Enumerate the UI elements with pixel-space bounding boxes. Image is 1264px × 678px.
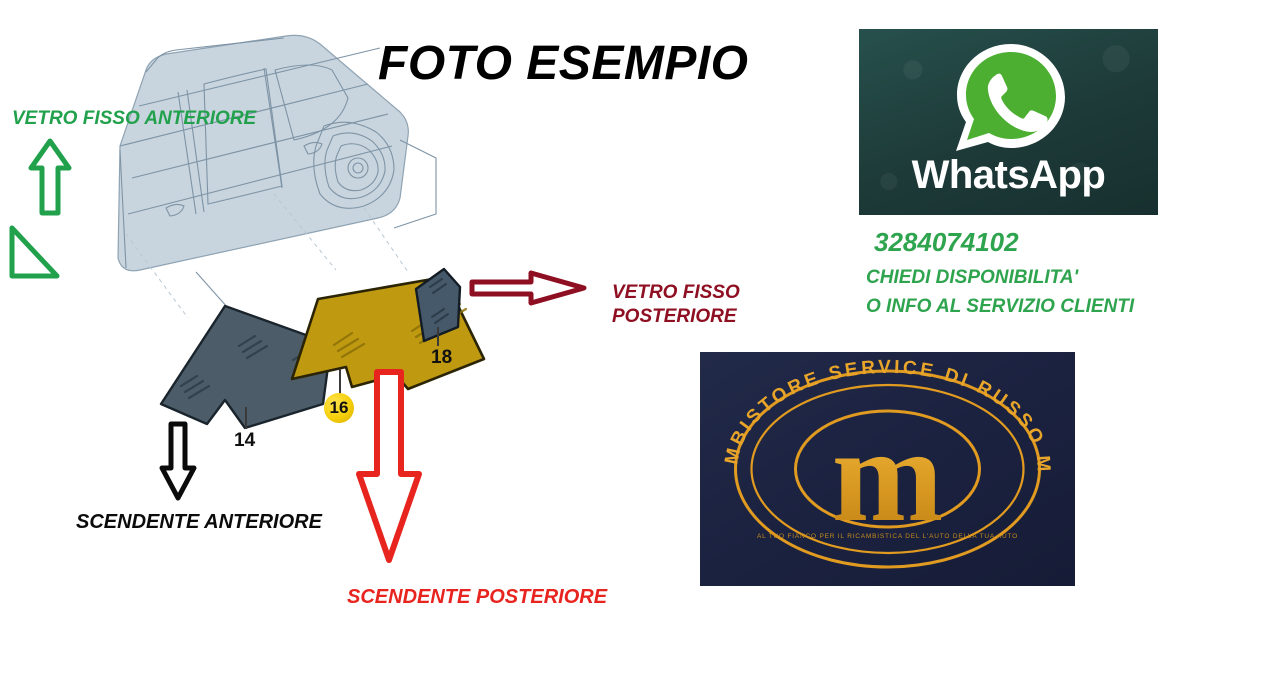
leader-line-16 xyxy=(339,369,341,394)
part-badge-16: 16 xyxy=(324,393,354,423)
part-number-18: 18 xyxy=(431,347,452,369)
callout-scendente-anteriore: SCENDENTE ANTERIORE xyxy=(76,511,322,534)
whatsapp-wordmark: WhatsApp xyxy=(859,153,1158,198)
shop-logo: MRICAMBISTORE SERVICE DI RUSSO MARCO m A… xyxy=(700,352,1075,586)
part-number-14: 14 xyxy=(234,430,255,452)
leader-line-14 xyxy=(245,407,247,429)
black-down-arrow-icon xyxy=(158,420,198,502)
callout-vetro-fisso-posteriore: VETRO FISSO POSTERIORE xyxy=(612,281,740,330)
callout-scendente-posteriore: SCENDENTE POSTERIORE xyxy=(347,586,607,609)
screenshot-canvas: FOTO ESEMPIO xyxy=(0,0,1264,678)
shop-logo-emblem-icon: MRICAMBISTORE SERVICE DI RUSSO MARCO m A… xyxy=(700,352,1075,586)
red-down-arrow-icon xyxy=(355,368,423,566)
car-body-illustration xyxy=(28,18,448,318)
green-triangle-arrow-icon xyxy=(8,225,60,280)
callout-vetro-fisso-anteriore: VETRO FISSO ANTERIORE xyxy=(12,108,256,130)
whatsapp-banner: WhatsApp xyxy=(859,29,1158,215)
contact-customer-service-text: O INFO AL SERVIZIO CLIENTI xyxy=(866,296,1134,318)
phone-number[interactable]: 3284074102 xyxy=(874,227,1019,258)
leader-line-18 xyxy=(437,327,439,346)
dark-red-right-arrow-icon xyxy=(468,268,588,308)
svg-text:m: m xyxy=(832,401,944,549)
contact-availability-text: CHIEDI DISPONIBILITA' xyxy=(866,267,1078,289)
svg-text:AL TUO FIANCO PER IL RICAMBIST: AL TUO FIANCO PER IL RICAMBISTICA DEL L'… xyxy=(757,533,1018,540)
green-up-arrow-icon xyxy=(28,137,72,217)
whatsapp-logo-icon xyxy=(948,39,1070,157)
